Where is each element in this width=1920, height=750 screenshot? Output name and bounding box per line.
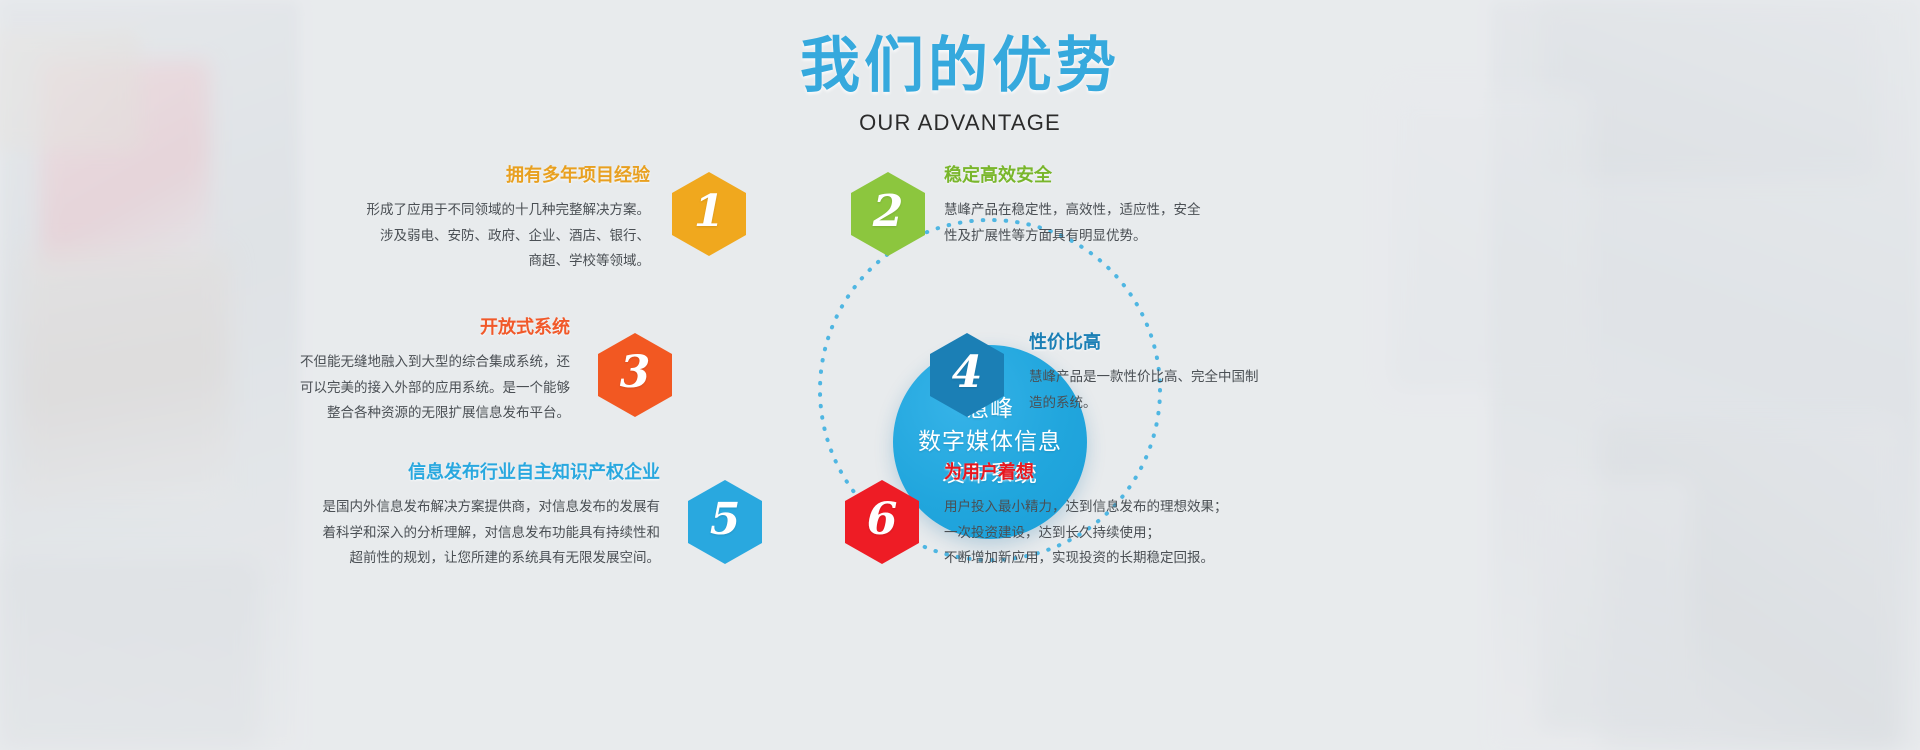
hexagon-number-4: 4	[952, 351, 983, 395]
advantage-body-5: 是国内外信息发布解决方案提供商，对信息发布的发展有着科学和深入的分析理解，对信息…	[260, 495, 660, 573]
advantage-body-line: 不断增加新应用，实现投资的长期稳定回报。	[944, 546, 1344, 572]
advantage-block-3: 开放式系统 不但能无缝地融入到大型的综合集成系统，还可以完美的接入外部的应用系统…	[220, 317, 570, 427]
advantage-title-1: 拥有多年项目经验	[300, 165, 650, 187]
hexagon-number-1: 1	[694, 190, 725, 234]
hexagon-badge-1[interactable]: 1	[672, 172, 746, 256]
advantage-block-1: 拥有多年项目经验 形成了应用于不同领域的十几种完整解决方案。涉及弱电、安防、政府…	[300, 165, 650, 275]
advantage-body-2: 慧峰产品在稳定性，高效性，适应性，安全性及扩展性等方面具有明显优势。	[944, 198, 1344, 250]
center-line-2: 数字媒体信息	[918, 426, 1062, 459]
advantage-body-line: 性及扩展性等方面具有明显优势。	[944, 224, 1344, 250]
hexagon-number-3: 3	[620, 351, 651, 395]
advantage-body-6: 用户投入最小精力，达到信息发布的理想效果；一次投资建设，达到长久持续使用；不断增…	[944, 495, 1344, 573]
hexagon-badge-3[interactable]: 3	[598, 333, 672, 417]
hexagon-badge-5[interactable]: 5	[688, 480, 762, 564]
advantage-body-line: 慧峰产品是一款性价比高、完全中国制	[1029, 365, 1429, 391]
advantage-body-line: 不但能无缝地融入到大型的综合集成系统，还	[220, 350, 570, 376]
advantage-body-1: 形成了应用于不同领域的十几种完整解决方案。涉及弱电、安防、政府、企业、酒店、银行…	[300, 198, 650, 276]
hexagon-number-6: 6	[867, 498, 898, 542]
advantage-body-line: 是国内外信息发布解决方案提供商，对信息发布的发展有	[260, 495, 660, 521]
advantage-body-4: 慧峰产品是一款性价比高、完全中国制造的系统。	[1029, 365, 1429, 417]
advantage-block-2: 稳定高效安全 慧峰产品在稳定性，高效性，适应性，安全性及扩展性等方面具有明显优势…	[944, 165, 1344, 249]
advantage-body-line: 慧峰产品在稳定性，高效性，适应性，安全	[944, 198, 1344, 224]
advantage-body-line: 可以完美的接入外部的应用系统。是一个能够	[220, 376, 570, 402]
page-subtitle: OUR ADVANTAGE	[0, 110, 1920, 136]
page-title: 我们的优势	[0, 36, 1920, 96]
advantage-body-line: 超前性的规划，让您所建的系统具有无限发展空间。	[260, 546, 660, 572]
advantage-title-4: 性价比高	[1029, 332, 1429, 354]
advantage-title-2: 稳定高效安全	[944, 165, 1344, 187]
advantage-body-line: 着科学和深入的分析理解，对信息发布功能具有持续性和	[260, 521, 660, 547]
advantage-body-line: 用户投入最小精力，达到信息发布的理想效果；	[944, 495, 1344, 521]
advantage-block-4: 性价比高 慧峰产品是一款性价比高、完全中国制造的系统。	[1029, 332, 1429, 416]
advantage-block-5: 信息发布行业自主知识产权企业 是国内外信息发布解决方案提供商，对信息发布的发展有…	[260, 462, 660, 572]
hexagon-number-2: 2	[873, 190, 904, 234]
advantage-body-line: 整合各种资源的无限扩展信息发布平台。	[220, 401, 570, 427]
advantage-title-5: 信息发布行业自主知识产权企业	[260, 462, 660, 484]
advantage-title-3: 开放式系统	[220, 317, 570, 339]
advantage-body-3: 不但能无缝地融入到大型的综合集成系统，还可以完美的接入外部的应用系统。是一个能够…	[220, 350, 570, 428]
advantage-body-line: 形成了应用于不同领域的十几种完整解决方案。	[300, 198, 650, 224]
advantage-body-line: 造的系统。	[1029, 391, 1429, 417]
header: 我们的优势 OUR ADVANTAGE	[0, 36, 1920, 136]
advantage-body-line: 商超、学校等领域。	[300, 249, 650, 275]
advantage-body-line: 涉及弱电、安防、政府、企业、酒店、银行、	[300, 224, 650, 250]
advantage-block-6: 为用户着想 用户投入最小精力，达到信息发布的理想效果；一次投资建设，达到长久持续…	[944, 462, 1344, 572]
advantage-title-6: 为用户着想	[944, 462, 1344, 484]
hexagon-number-5: 5	[710, 498, 741, 542]
advantage-body-line: 一次投资建设，达到长久持续使用；	[944, 521, 1344, 547]
